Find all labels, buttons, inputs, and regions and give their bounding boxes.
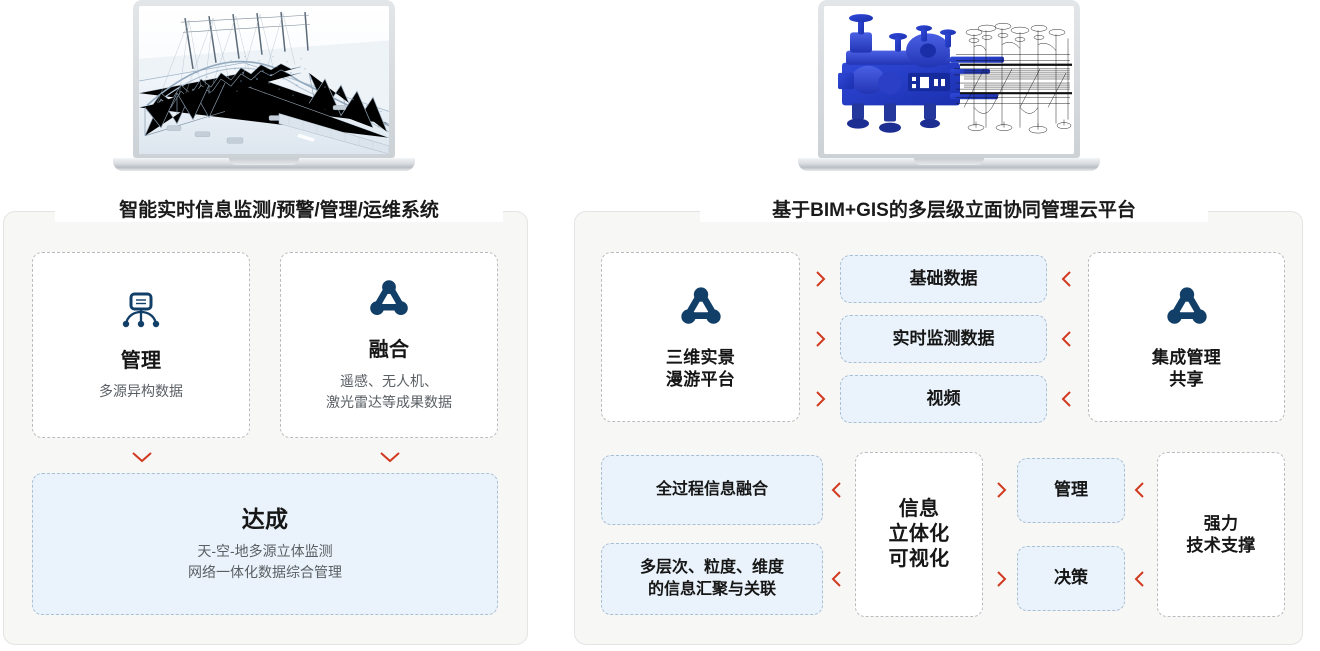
right-laptop-trackpad-notch [914,158,984,165]
item-whole-process-information-fusion-label: 全过程信息融合 [656,479,768,501]
right-panel-title: 基于BIM+GIS的多层级立面协同管理云平台 [700,200,1208,222]
chevron-down-icon-left [131,450,153,464]
card-fusion-sub: 遥感、无人机、 激光雷达等成果数据 [326,371,452,413]
item-decision-label: 决策 [1054,567,1088,590]
item-basic-data-label: 基础数据 [910,268,978,291]
card-management[interactable]: 管理 多源异构数据 [32,252,250,438]
chevron-left-icon-realtime-data [1060,329,1073,349]
card-strong-technical-support[interactable]: 强力 技术支撑 [1157,452,1285,617]
network-monitor-icon [119,288,163,337]
card-information-3d-visualization-title: 信息 立体化 可视化 [889,497,950,573]
chevron-right-icon-realtime-data [814,329,827,349]
point-cloud-bridge-render [139,6,389,154]
card-integrated-management-sharing-title: 集成管理 共享 [1152,347,1221,390]
chevron-right-icon-decision [995,569,1008,589]
item-management-label: 管理 [1054,479,1088,502]
card-integrated-management-sharing[interactable]: 集成管理 共享 [1088,252,1285,422]
left-panel-title: 智能实时信息监测/预警/管理/运维系统 [55,200,503,222]
card-fusion-title: 融合 [369,338,410,363]
fusion-nodes-icon [367,277,411,326]
card-3d-roaming-platform[interactable]: 三维实景 漫游平台 [601,252,800,422]
item-management[interactable]: 管理 [1017,458,1125,523]
item-multilevel-information-aggregation-label: 多层次、粒度、维度 的信息汇聚与关联 [640,557,784,600]
item-realtime-monitoring-data-label: 实时监测数据 [893,328,995,351]
card-achievement-title: 达成 [242,505,289,534]
chevron-right-icon-video [814,389,827,409]
item-whole-process-information-fusion[interactable]: 全过程信息融合 [601,455,823,525]
item-decision[interactable]: 决策 [1017,546,1125,611]
item-realtime-monitoring-data[interactable]: 实时监测数据 [840,315,1047,363]
chevron-left-icon-basic-data [1060,269,1073,289]
chevron-right-icon-basic-data [814,269,827,289]
card-fusion[interactable]: 融合 遥感、无人机、 激光雷达等成果数据 [280,252,498,438]
item-video[interactable]: 视频 [840,375,1047,423]
left-laptop [133,0,395,168]
item-multilevel-information-aggregation[interactable]: 多层次、粒度、维度 的信息汇聚与关联 [601,543,823,615]
card-strong-technical-support-title: 强力 技术支撑 [1186,513,1255,556]
card-management-title: 管理 [121,349,162,374]
card-3d-roaming-platform-title: 三维实景 漫游平台 [666,347,735,390]
item-basic-data[interactable]: 基础数据 [840,255,1047,303]
card-achievement-sub: 天-空-地多源立体监测 网络一体化数据综合管理 [188,541,342,583]
chevron-down-icon-right [379,450,401,464]
right-laptop-screen [824,6,1074,154]
fusion-nodes-icon [678,284,724,335]
chevron-right-icon-management [995,480,1008,500]
card-information-3d-visualization[interactable]: 信息 立体化 可视化 [855,452,983,617]
right-laptop [818,0,1080,168]
fusion-nodes-icon [1164,284,1210,335]
card-achievement[interactable]: 达成 天-空-地多源立体监测 网络一体化数据综合管理 [32,473,498,615]
industrial-piping-render [824,6,1074,154]
left-laptop-trackpad-notch [229,158,299,165]
diagram-root: 智能实时信息监测/预警/管理/运维系统 管理 多源异构数据 [0,0,1320,651]
chevron-left-icon-decision [1133,569,1146,589]
left-laptop-base [113,158,414,171]
right-laptop-base [798,158,1099,171]
left-laptop-screen [139,6,389,154]
chevron-left-icon-management [1133,480,1146,500]
chevron-left-icon-whole-process [830,480,843,500]
chevron-left-icon-video [1060,389,1073,409]
card-management-sub: 多源异构数据 [99,381,183,402]
chevron-left-icon-multilevel [830,569,843,589]
item-video-label: 视频 [927,388,961,411]
